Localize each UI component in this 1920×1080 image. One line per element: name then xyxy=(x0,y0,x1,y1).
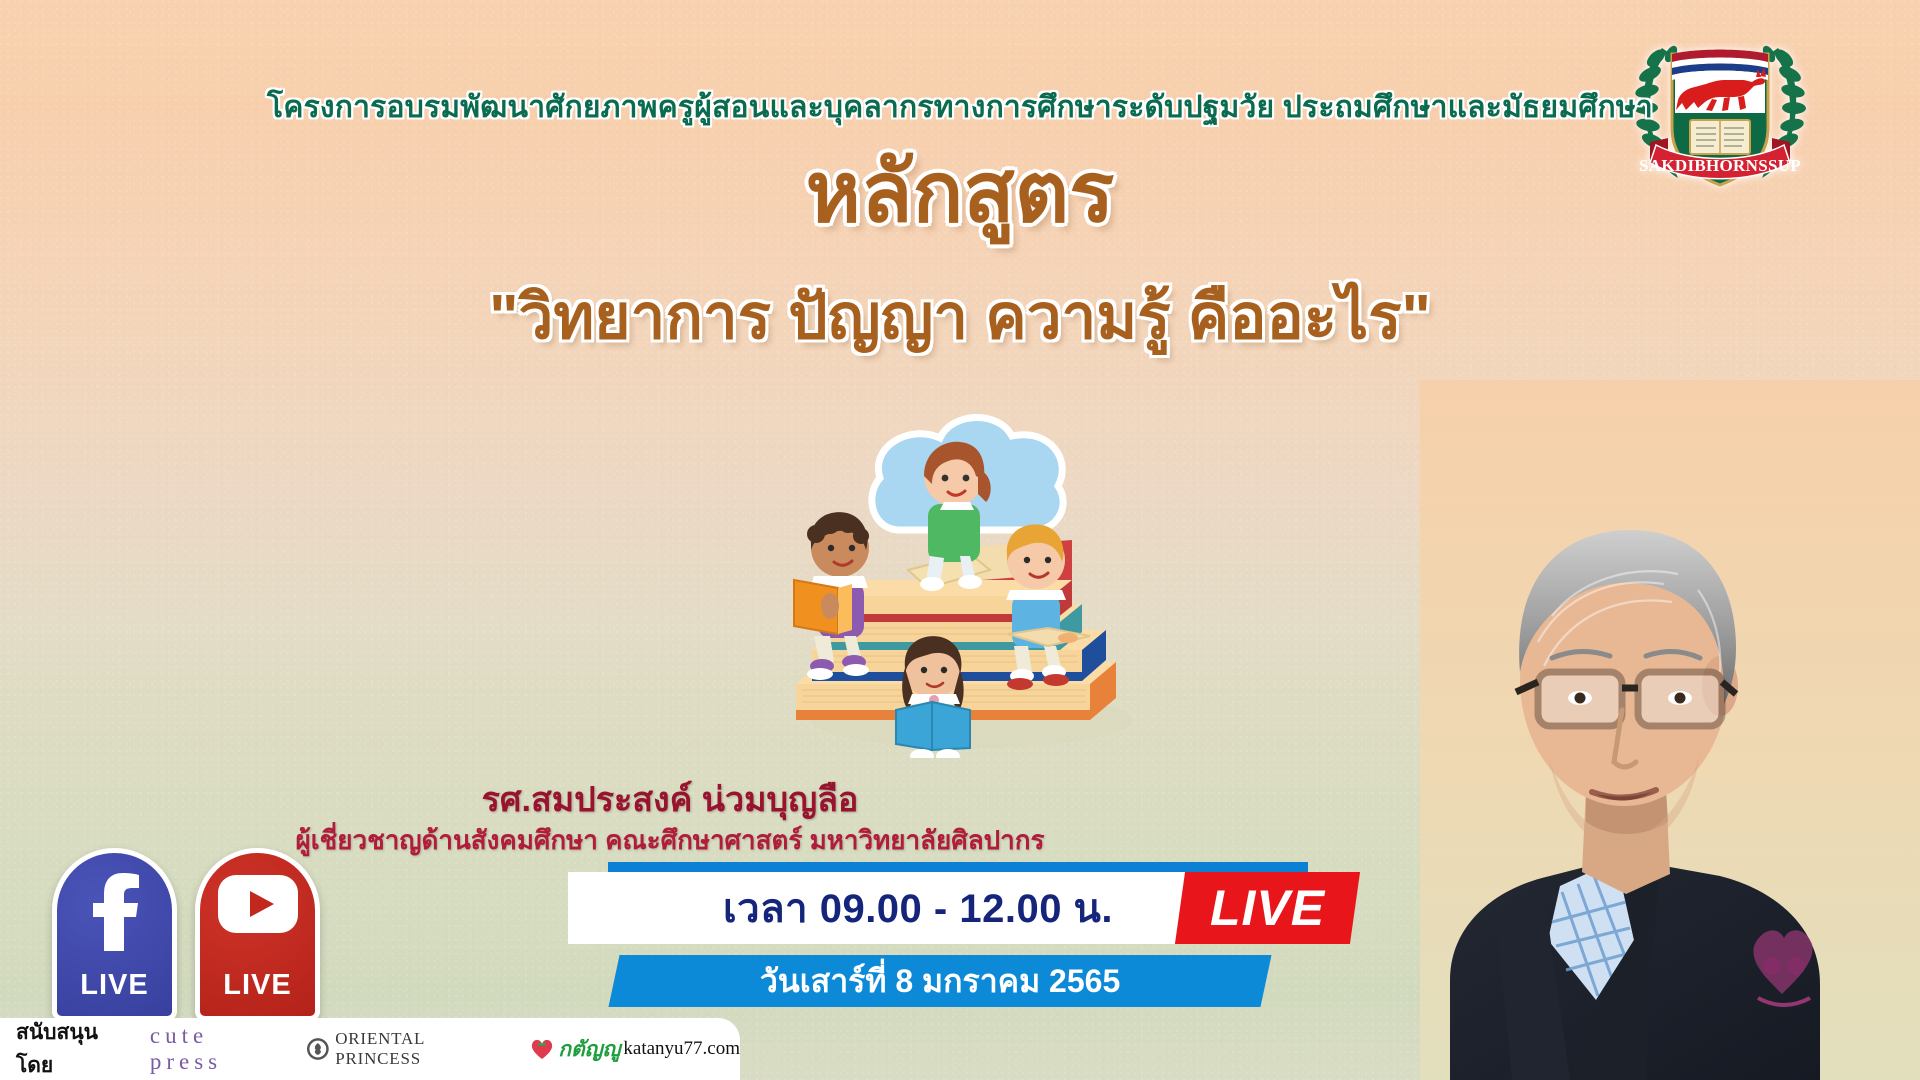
facebook-live-button[interactable]: LIVE xyxy=(52,848,177,1021)
child-front xyxy=(896,636,970,758)
speaker-name: รศ.สมประสงค์ น่วมบุญลือ xyxy=(0,772,1340,826)
child-left xyxy=(794,512,869,680)
live-badge-label: LIVE xyxy=(1210,879,1325,937)
facebook-live-label: LIVE xyxy=(80,969,148,1002)
youtube-icon xyxy=(200,873,315,935)
sponsor-bar: สนับสนุนโดย cute press ORIENTAL PRINCESS… xyxy=(0,1018,740,1080)
time-bar-panel: เวลา 09.00 - 12.00 น. xyxy=(568,872,1268,944)
sponsor-katanyu: กตัญญู katanyu77.com xyxy=(529,1033,740,1066)
facebook-icon xyxy=(57,873,172,951)
time-bar: เวลา 09.00 - 12.00 น. LIVE xyxy=(568,862,1358,944)
sponsor-oriental-princess: ORIENTAL PRINCESS xyxy=(306,1029,514,1069)
sponsor-label: สนับสนุนโดย xyxy=(16,1016,134,1080)
speaker-photo xyxy=(1420,380,1920,1080)
time-text: เวลา 09.00 - 12.00 น. xyxy=(723,876,1113,940)
page-title: หลักสูตร xyxy=(0,148,1920,236)
page-subtitle: "วิทยาการ ปัญญา ความรู้ คืออะไร" xyxy=(0,268,1920,366)
heart-icon xyxy=(529,1037,555,1061)
date-text: วันเสาร์ที่ 8 มกราคม 2565 xyxy=(760,956,1120,1007)
youtube-live-button[interactable]: LIVE xyxy=(195,848,320,1021)
sponsor-cute-press: cute press xyxy=(150,1023,290,1075)
children-reading-illustration xyxy=(760,398,1180,758)
program-header-line: โครงการอบรมพัฒนาศักยภาพครูผู้สอนและบุคลา… xyxy=(0,84,1920,131)
social-live-buttons: LIVE LIVE xyxy=(52,848,320,1021)
live-badge: LIVE xyxy=(1175,872,1360,944)
youtube-live-label: LIVE xyxy=(223,969,291,1002)
date-bar: วันเสาร์ที่ 8 มกราคม 2565 xyxy=(608,955,1271,1007)
oriental-princess-logo-icon xyxy=(306,1037,330,1061)
